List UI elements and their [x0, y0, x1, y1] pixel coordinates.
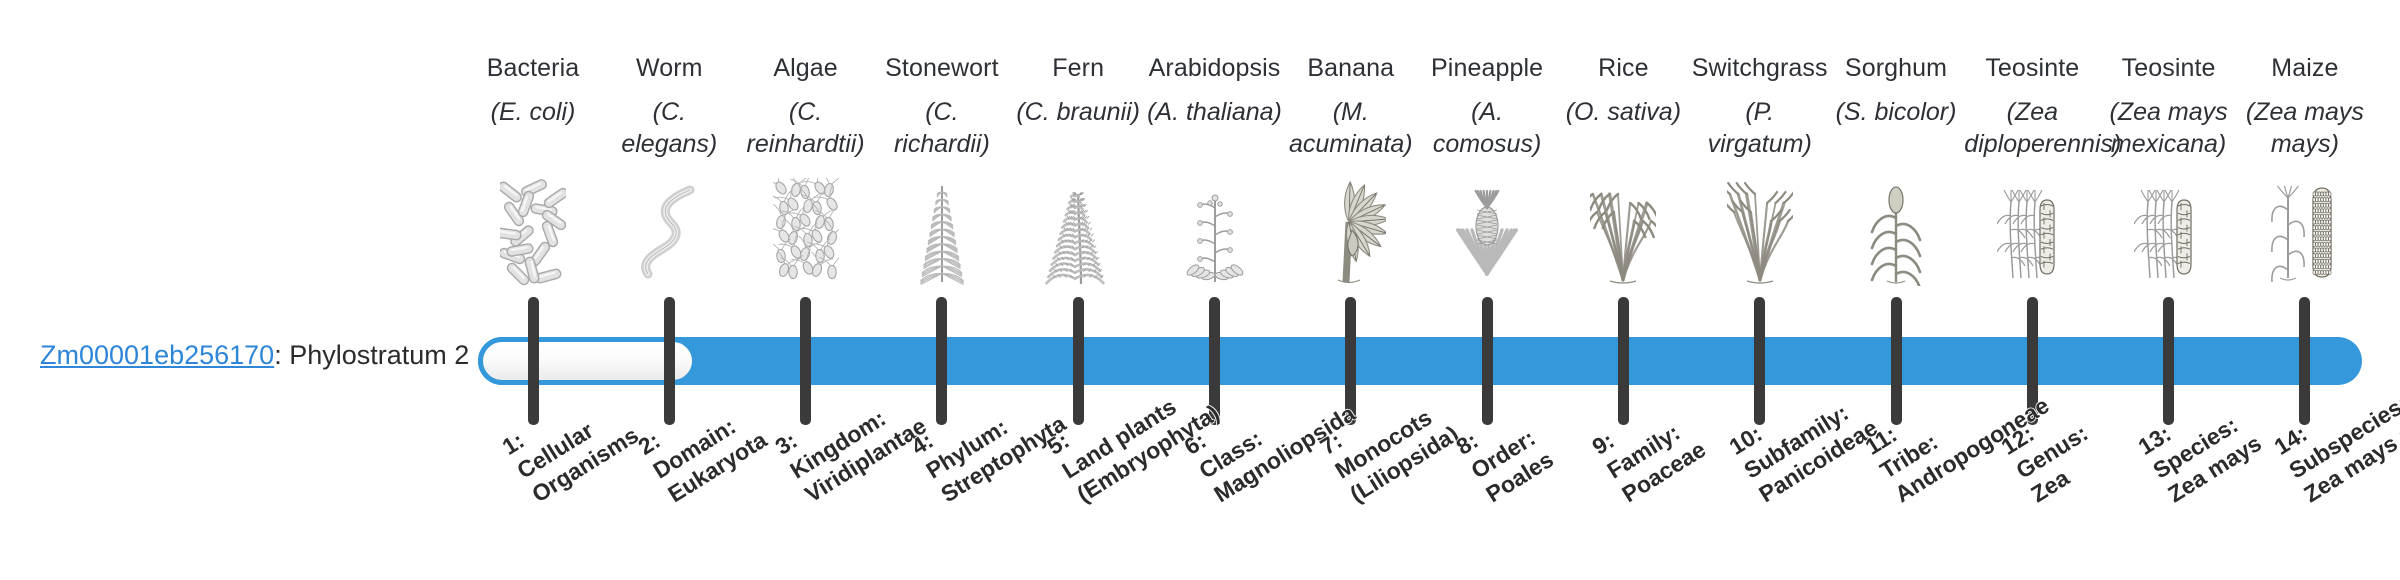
species-header-1: Bacteria(E. coli): [465, 52, 601, 128]
species-latin-name: (A. thaliana): [1147, 96, 1283, 128]
species-latin-name: (C. reinhardtii): [738, 96, 874, 160]
species-header-9: Rice(O. sativa): [1555, 52, 1691, 128]
species-header-7: Banana(M. acuminata): [1283, 52, 1419, 160]
species-header-13: Teosinte(Zea mays mexicana): [2101, 52, 2237, 160]
phylostratum-value: Phylostratum 2: [289, 340, 469, 370]
gene-label-separator: :: [274, 340, 289, 370]
species-header-12: Teosinte(Zea diploperennis): [1964, 52, 2100, 160]
teosinte-plant-and-ear-icon: [1964, 178, 2100, 286]
species-common-name: Fern: [1010, 52, 1146, 84]
gene-phylostratum-label: Zm00001eb256170: Phylostratum 2: [40, 340, 458, 371]
sorghum-plant-icon: [1828, 178, 1964, 286]
species-common-name: Worm: [601, 52, 737, 84]
species-latin-name: (E. coli): [465, 96, 601, 128]
species-latin-name: (Zea mays mexicana): [2101, 96, 2237, 160]
species-common-name: Banana: [1283, 52, 1419, 84]
green-algae-cells-icon: [738, 178, 874, 286]
species-header-5: Fern(C. braunii): [1010, 52, 1146, 128]
species-common-name: Switchgrass: [1692, 52, 1828, 84]
species-latin-name: (C. richardii): [874, 96, 1010, 160]
bacteria-rods-icon: [465, 178, 601, 286]
switchgrass-plant-icon: [1692, 178, 1828, 286]
species-header-6: Arabidopsis(A. thaliana): [1147, 52, 1283, 128]
stonewort-alga-icon: [874, 178, 1010, 286]
species-header-4: Stonewort(C. richardii): [874, 52, 1010, 160]
species-common-name: Rice: [1555, 52, 1691, 84]
species-common-name: Teosinte: [2101, 52, 2237, 84]
species-latin-name: (M. acuminata): [1283, 96, 1419, 160]
species-latin-name: (O. sativa): [1555, 96, 1691, 128]
species-common-name: Pineapple: [1419, 52, 1555, 84]
species-latin-name: (Zea diploperennis): [1964, 96, 2100, 160]
species-latin-name: (C. elegans): [601, 96, 737, 160]
species-header-2: Worm(C. elegans): [601, 52, 737, 160]
species-latin-name: (A. comosus): [1419, 96, 1555, 160]
species-header-14: Maize(Zea mays mays): [2237, 52, 2373, 160]
species-header-3: Algae(C. reinhardtii): [738, 52, 874, 160]
rice-plant-icon: [1555, 178, 1691, 286]
species-common-name: Teosinte: [1964, 52, 2100, 84]
maize-plant-and-cob-icon: [2237, 178, 2373, 286]
species-common-name: Arabidopsis: [1147, 52, 1283, 84]
species-common-name: Bacteria: [465, 52, 601, 84]
banana-plant-icon: [1283, 178, 1419, 286]
phylostratum-tick-1: [528, 297, 539, 425]
species-common-name: Sorghum: [1828, 52, 1964, 84]
species-latin-name: (S. bicolor): [1828, 96, 1964, 128]
species-header-10: Switchgrass(P. virgatum): [1692, 52, 1828, 160]
species-common-name: Stonewort: [874, 52, 1010, 84]
pineapple-plant-icon: [1419, 178, 1555, 286]
species-latin-name: (C. braunii): [1010, 96, 1146, 128]
nematode-worm-icon: [601, 178, 737, 286]
species-header-11: Sorghum(S. bicolor): [1828, 52, 1964, 128]
species-header-8: Pineapple(A. comosus): [1419, 52, 1555, 160]
fern-frond-icon: [1010, 178, 1146, 286]
species-common-name: Algae: [738, 52, 874, 84]
species-latin-name: (Zea mays mays): [2237, 96, 2373, 160]
phylostratigraphy-timeline: Bacteria(E. coli)Worm(C. elegans)Algae(C…: [0, 0, 2400, 580]
gene-id-link[interactable]: Zm00001eb256170: [40, 340, 274, 370]
species-latin-name: (P. virgatum): [1692, 96, 1828, 160]
species-common-name: Maize: [2237, 52, 2373, 84]
teosinte-mexicana-plant-and-ear-icon: [2101, 178, 2237, 286]
arabidopsis-plant-icon: [1147, 178, 1283, 286]
